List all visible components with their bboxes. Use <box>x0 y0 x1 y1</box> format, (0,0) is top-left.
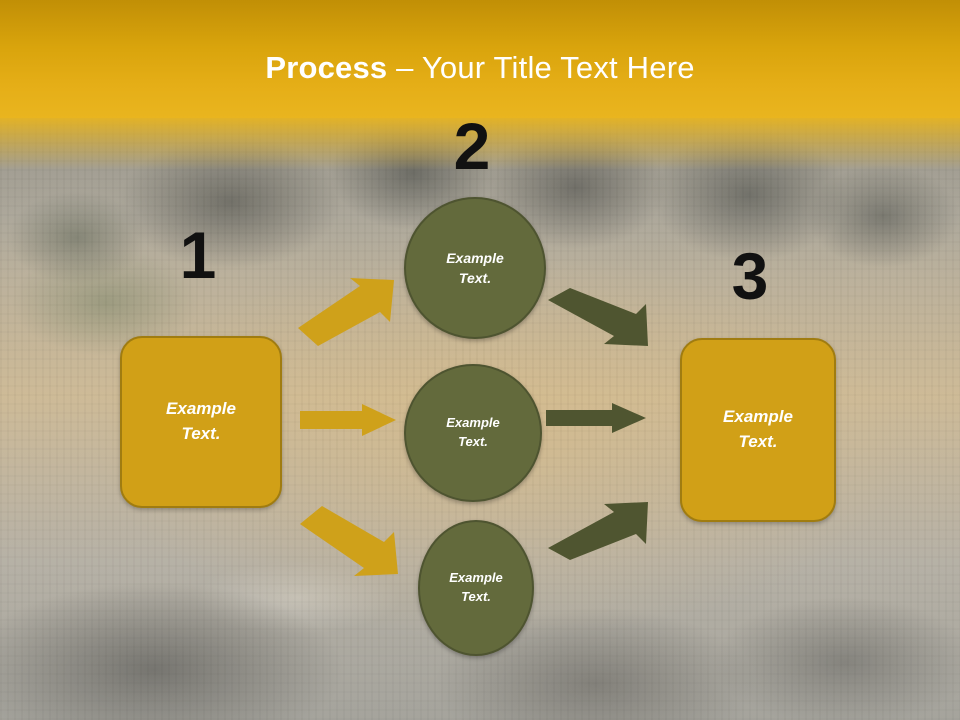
process-box-right-line1: Example <box>723 405 793 430</box>
arrow-bottom-circle-to-right <box>548 500 658 562</box>
slide: Process – Your Title Text Here 1 2 3 Exa… <box>0 0 960 720</box>
process-circle-middle[interactable]: Example Text. <box>404 364 542 502</box>
arrow-left-to-bottom-circle <box>300 506 408 578</box>
arrow-left-to-mid-circle <box>300 404 396 436</box>
process-circle-top-line1: Example <box>446 248 504 268</box>
process-box-left[interactable]: Example Text. <box>120 336 282 508</box>
step-number-1: 1 <box>158 222 238 288</box>
process-circle-top[interactable]: Example Text. <box>404 197 546 339</box>
step-number-2: 2 <box>432 113 512 179</box>
process-circle-bottom[interactable]: Example Text. <box>418 520 534 656</box>
process-box-right[interactable]: Example Text. <box>680 338 836 522</box>
arrow-mid-circle-to-right <box>546 403 646 433</box>
process-box-right-line2: Text. <box>738 430 777 455</box>
process-box-left-line1: Example <box>166 397 236 422</box>
step-number-3: 3 <box>710 243 790 309</box>
process-circle-top-line2: Text. <box>459 268 491 288</box>
page-title-strong: Process <box>265 50 387 85</box>
arrow-top-circle-to-right <box>548 288 658 350</box>
process-box-left-line2: Text. <box>181 422 220 447</box>
page-title: Process – Your Title Text Here <box>0 50 960 86</box>
process-circle-middle-line2: Text. <box>458 433 488 452</box>
process-circle-bottom-line1: Example <box>449 569 502 588</box>
process-circle-bottom-line2: Text. <box>461 588 491 607</box>
page-title-rest: – Your Title Text Here <box>387 50 694 85</box>
arrow-left-to-top-circle <box>298 278 404 348</box>
process-circle-middle-line1: Example <box>446 414 499 433</box>
